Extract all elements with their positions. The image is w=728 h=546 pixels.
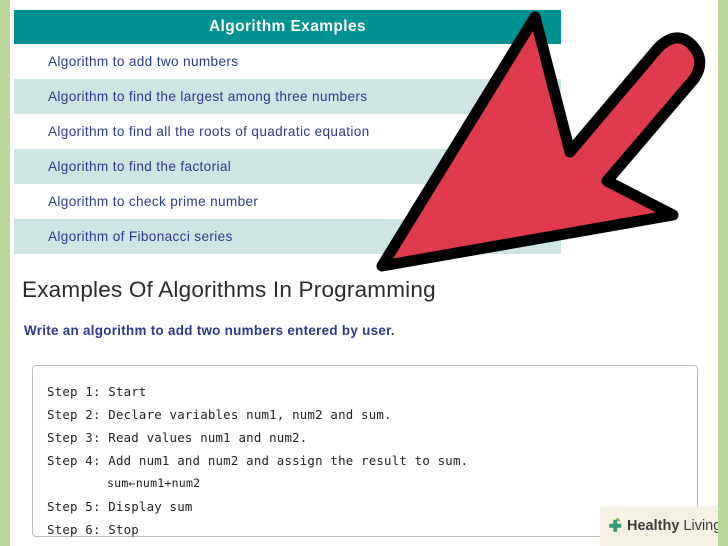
pseudocode-box: Step 1: Start Step 2: Declare variables …: [32, 365, 698, 537]
table-row[interactable]: Algorithm to find the factorial: [14, 149, 561, 184]
table-row[interactable]: Algorithm to find all the roots of quadr…: [14, 114, 561, 149]
table-header-row: Algorithm Examples: [14, 10, 561, 44]
code-line-2: Step 2: Declare variables num1, num2 and…: [47, 403, 697, 426]
algorithm-link-fibonacci-series[interactable]: Algorithm of Fibonacci series: [14, 219, 561, 254]
page-title: Examples Of Algorithms In Programming: [22, 277, 436, 303]
brand-logo-text: Healthy Living: [627, 518, 721, 534]
code-line-3: Step 3: Read values num1 and num2.: [47, 426, 697, 449]
algorithm-link-largest-three-numbers[interactable]: Algorithm to find the largest among thre…: [14, 79, 561, 114]
code-line-4: Step 4: Add num1 and num2 and assign the…: [47, 449, 697, 472]
table-row[interactable]: Algorithm to find the largest among thre…: [14, 79, 561, 114]
brand-logo-light: Living: [679, 518, 721, 534]
table-header-cell: Algorithm Examples: [14, 10, 561, 44]
page-content: Algorithm Examples Algorithm to add two …: [10, 0, 718, 546]
algorithm-link-factorial[interactable]: Algorithm to find the factorial: [14, 149, 561, 184]
brand-logo: Healthy Living: [600, 506, 718, 546]
code-line-1: Step 1: Start: [47, 380, 697, 403]
table-row[interactable]: Algorithm of Fibonacci series: [14, 219, 561, 254]
algorithm-examples-table: Algorithm Examples Algorithm to add two …: [14, 10, 561, 254]
code-line-5-assignment: sum←num1+num2: [47, 472, 697, 495]
table-row[interactable]: Algorithm to check prime number: [14, 184, 561, 219]
article-subtitle: Write an algorithm to add two numbers en…: [24, 323, 395, 338]
brand-logo-bold: Healthy: [627, 518, 679, 534]
algorithm-link-add-two-numbers[interactable]: Algorithm to add two numbers: [14, 44, 561, 79]
medical-cross-leaf-icon: [606, 517, 625, 536]
table-row[interactable]: Algorithm to add two numbers: [14, 44, 561, 79]
algorithm-link-quadratic-roots[interactable]: Algorithm to find all the roots of quadr…: [14, 114, 561, 149]
screenshot-root: Algorithm Examples Algorithm to add two …: [0, 0, 728, 546]
algorithm-link-prime-number[interactable]: Algorithm to check prime number: [14, 184, 561, 219]
